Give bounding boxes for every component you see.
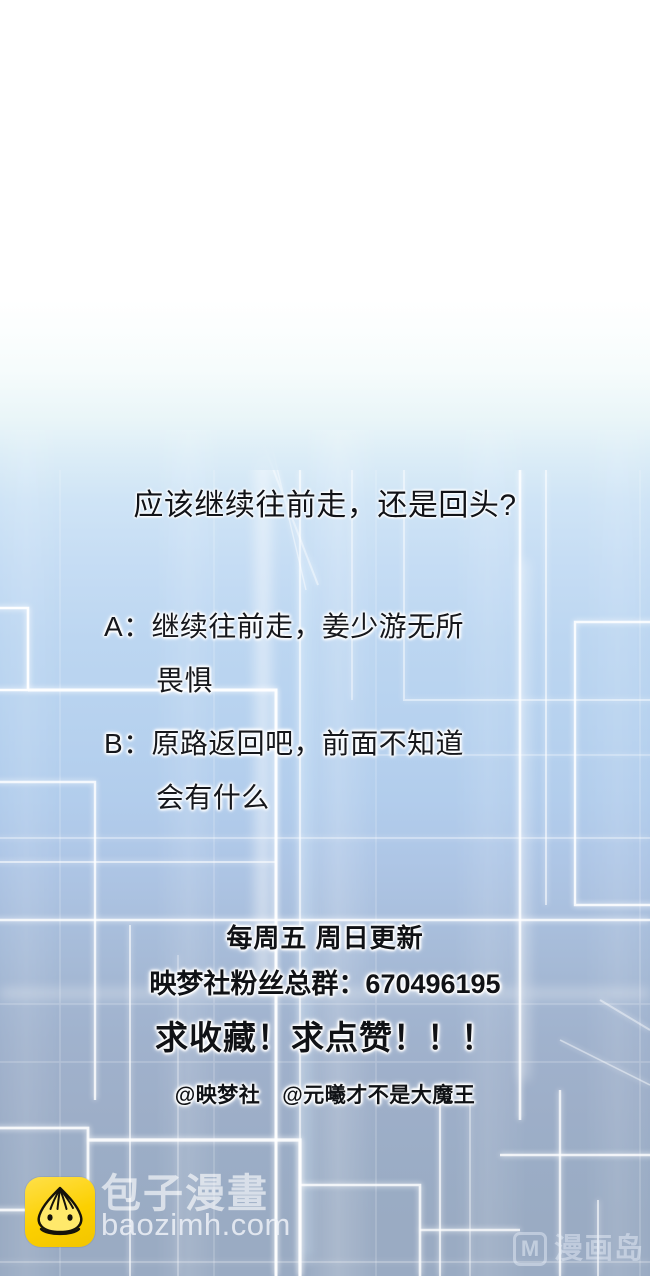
manhuadao-brand-cn: 漫画岛	[554, 1235, 644, 1264]
credits-row: @映梦社@元曦才不是大魔王	[0, 1072, 650, 1120]
options-list: A：继续往前走，姜少游无所 畏惧 B：原路返回吧，前面不知道 会有什么	[104, 600, 574, 825]
manhuadao-watermark: M 漫画岛	[513, 1232, 644, 1266]
option-a-continuation: 畏惧	[104, 654, 574, 708]
option-b-continuation: 会有什么	[104, 771, 574, 825]
baozimh-url: baozimh.com	[101, 1207, 291, 1243]
light-shafts	[0, 430, 650, 1276]
option-a-key: A：	[104, 611, 151, 642]
credit-author: @元曦才不是大魔王	[282, 1084, 475, 1107]
question-title: 应该继续往前走，还是回头?	[0, 487, 650, 525]
credit-studio: @映梦社	[175, 1084, 260, 1107]
option-a[interactable]: A：继续往前走，姜少游无所 畏惧	[104, 600, 574, 708]
fan-group-id: 映梦社粉丝总群：670496195	[0, 958, 650, 1010]
manhuadao-m-icon: M	[513, 1232, 547, 1266]
option-a-text: 继续往前走，姜少游无所	[151, 611, 463, 642]
option-b[interactable]: B：原路返回吧，前面不知道 会有什么	[104, 717, 574, 825]
promo-block: 每周五 周日更新 映梦社粉丝总群：670496195 求收藏！求点赞！！！ @映…	[0, 918, 650, 1120]
call-to-action: 求收藏！求点赞！！！	[0, 1010, 650, 1066]
option-b-text: 原路返回吧，前面不知道	[151, 728, 463, 759]
option-b-key: B：	[104, 728, 151, 759]
manhua-panel: 应该继续往前走，还是回头? A：继续往前走，姜少游无所 畏惧 B：原路返回吧，前…	[0, 0, 650, 1276]
baozimh-watermark: 包子漫畫 baozimh.com	[25, 1177, 315, 1251]
baozi-bun-icon	[25, 1177, 95, 1247]
update-schedule: 每周五 周日更新	[0, 918, 650, 958]
baozimh-wordmark: 包子漫畫 baozimh.com	[101, 1171, 316, 1251]
